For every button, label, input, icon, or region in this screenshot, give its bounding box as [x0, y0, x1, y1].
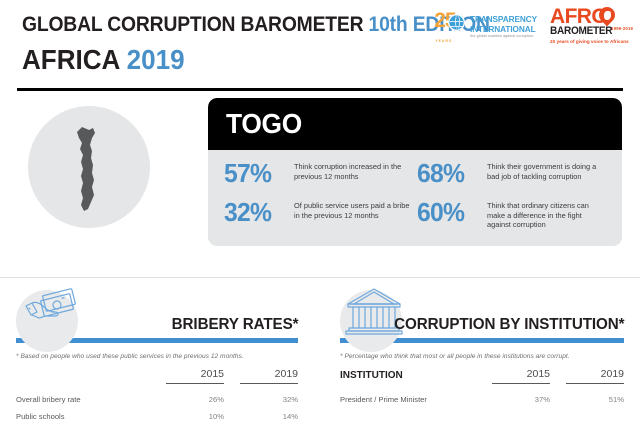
report-region: AFRICA: [22, 44, 119, 75]
bribery-panel-header: BRIBERY RATES*: [16, 286, 298, 336]
institution-panel-header: CORRUPTION BY INSTITUTION*: [340, 286, 624, 336]
ti-tagline: the global coalition against corruption: [470, 35, 540, 39]
stat-item: 60% Think that ordinary citizens can mak…: [417, 199, 610, 238]
country-section: TOGO 57% Think corruption increased in t…: [0, 86, 640, 253]
ti-word-international: INTERNATIONAL: [470, 25, 537, 34]
table-row: Public schools 10% 14%: [16, 404, 298, 421]
row-label: Overall bribery rate: [16, 384, 166, 405]
stat-description: Think that ordinary citizens can make a …: [487, 199, 605, 230]
bribery-panel-title: BRIBERY RATES*: [171, 316, 298, 334]
stat-item: 57% Think corruption increased in the pr…: [224, 160, 417, 199]
row-value-2019: 14%: [240, 404, 298, 421]
pin-africa-cutout: [604, 11, 611, 20]
row-value-2019: 32%: [240, 384, 298, 405]
logo-group: 25 YEARS TRANSPARENCY INTERNATIONAL the …: [434, 5, 634, 47]
stat-item: 68% Think their government is doing a ba…: [417, 160, 610, 199]
afrobarometer-logo: AFRO BAROMETER 1999-2019 20 years of giv…: [550, 5, 634, 47]
table-row: President / Prime Minister 37% 51%: [340, 384, 624, 405]
stat-value: 57%: [224, 160, 283, 186]
report-year: 2019: [127, 44, 185, 75]
row-value-2019: 51%: [566, 384, 624, 405]
bribery-panel-note: * Based on people who used these public …: [16, 353, 298, 360]
row-spacer: [224, 404, 240, 421]
afro-wordmark: AFRO: [550, 7, 634, 26]
row-spacer: [550, 384, 566, 405]
country-stats-card: TOGO 57% Think corruption increased in t…: [208, 98, 622, 246]
ti-years-label: YEARS: [435, 39, 452, 43]
row-value-2015: 10%: [166, 404, 224, 421]
column-spacer: [550, 368, 566, 384]
afro-tagline: 20 years of giving voice to Africans: [550, 39, 634, 44]
institution-panel-title: CORRUPTION BY INSTITUTION*: [394, 316, 624, 334]
institution-panel-note: * Percentage who think that most or all …: [340, 353, 624, 360]
country-stats-grid: 57% Think corruption increased in the pr…: [208, 150, 622, 246]
bribery-rates-panel: BRIBERY RATES* * Based on people who use…: [0, 278, 320, 421]
column-spacer: [224, 368, 240, 384]
stat-value: 32%: [224, 199, 283, 225]
afro-dates: 1999-2019: [611, 26, 633, 31]
country-name: TOGO: [226, 108, 302, 140]
row-value-2015: 37%: [492, 384, 550, 405]
stat-description: Think their government is doing a bad jo…: [487, 160, 605, 181]
institution-col-2019: 2019: [566, 368, 624, 384]
row-spacer: [224, 384, 240, 405]
table-header-row: 2015 2019: [16, 368, 298, 384]
institution-col-2015: 2015: [492, 368, 550, 384]
panels-row: BRIBERY RATES* * Based on people who use…: [0, 278, 640, 421]
stat-value: 60%: [417, 199, 476, 225]
stat-description: Think corruption increased in the previo…: [294, 160, 412, 181]
stat-item: 32% Of public service users paid a bribe…: [224, 199, 417, 238]
bribery-col-2015: 2015: [166, 368, 224, 384]
table-row: Overall bribery rate 26% 32%: [16, 384, 298, 405]
row-value-2015: 26%: [166, 384, 224, 405]
bribery-col-2019: 2019: [240, 368, 298, 384]
table-header-row: INSTITUTION 2015 2019: [340, 368, 624, 384]
country-name-banner: TOGO: [208, 98, 622, 150]
ti-wordmark: TRANSPARENCY INTERNATIONAL the global co…: [470, 11, 540, 39]
row-label: President / Prime Minister: [340, 384, 492, 405]
institution-panel: CORRUPTION BY INSTITUTION* * Percentage …: [320, 278, 640, 421]
togo-map-icon: [68, 125, 110, 213]
page-header: GLOBAL CORRUPTION BAROMETER 10th EDITION…: [0, 0, 640, 86]
bribery-rates-table: 2015 2019 Overall bribery rate 26% 32% P…: [16, 368, 298, 421]
ti-word-transparency: TRANSPARENCY: [470, 15, 537, 24]
ti-25-years-icon: 25 YEARS: [434, 8, 468, 42]
stat-value: 68%: [417, 160, 476, 186]
country-map-circle: [28, 106, 150, 228]
globe-icon: [448, 14, 465, 31]
institution-table: INSTITUTION 2015 2019 President / Prime …: [340, 368, 624, 404]
transparency-international-logo: 25 YEARS TRANSPARENCY INTERNATIONAL the …: [434, 5, 540, 45]
africa-map-pin-icon: [599, 7, 616, 27]
row-label: Public schools: [16, 404, 166, 421]
report-subtitle-line: AFRICA 2019: [22, 44, 495, 76]
report-title-main: GLOBAL CORRUPTION BAROMETER: [22, 13, 363, 36]
report-title-line: GLOBAL CORRUPTION BAROMETER 10th EDITION: [22, 14, 490, 36]
institution-col-label: INSTITUTION: [340, 368, 492, 384]
hand-passing-money-icon: [18, 286, 82, 338]
stat-description: Of public service users paid a bribe in …: [294, 199, 412, 220]
bribery-col-label: [16, 368, 166, 384]
